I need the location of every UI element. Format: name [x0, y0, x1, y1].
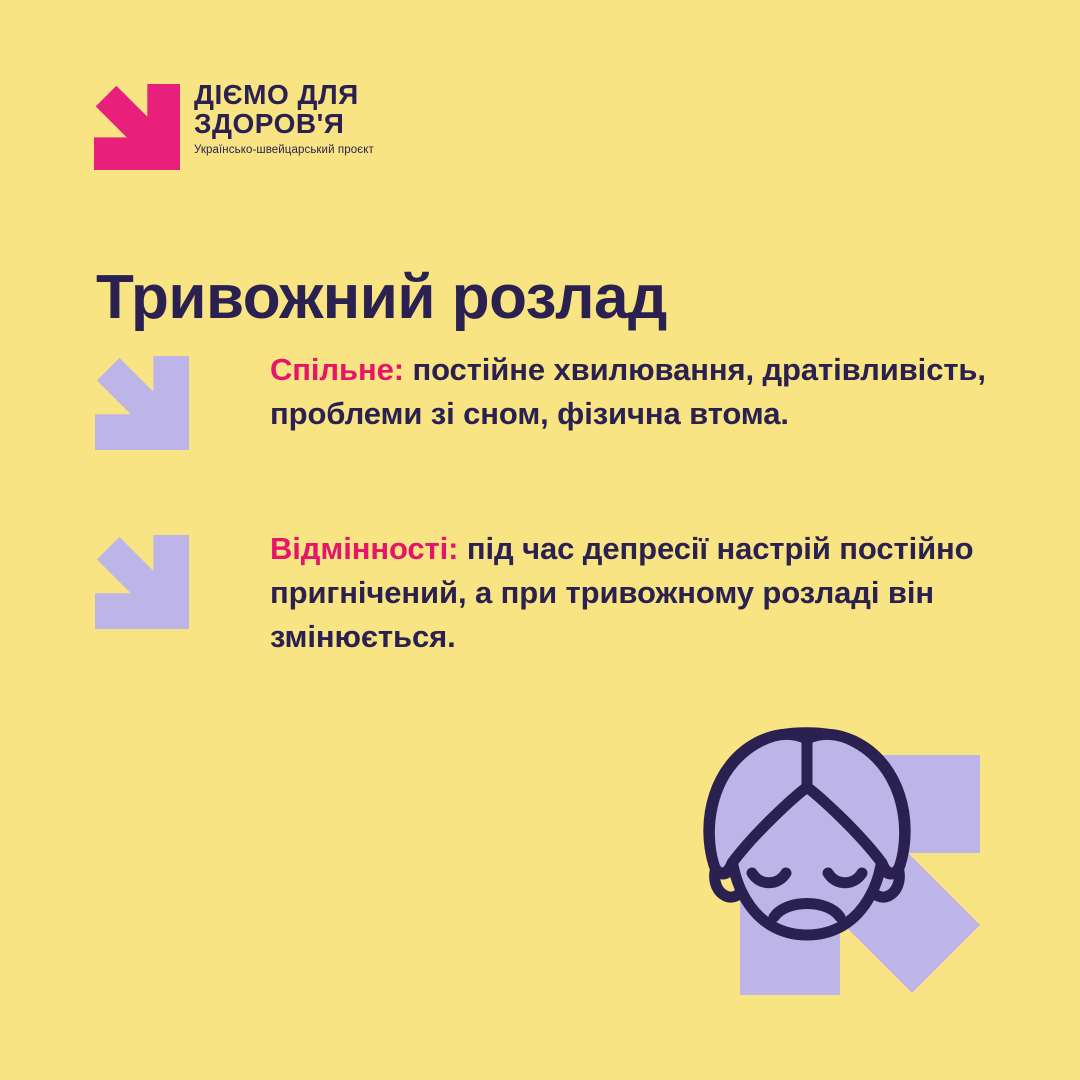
logo-line-1: ДІЄМО ДЛЯ [194, 80, 414, 109]
bullet-item: Відмінності: під час депресії настрій по… [90, 527, 990, 659]
logo-arrow-up-right-icon [94, 84, 180, 170]
logo-line-2: ЗДОРОВ'Я [194, 109, 414, 138]
bullet-text: Спільне: постійне хвилювання, дратівливі… [270, 348, 990, 436]
sad-face-with-arrow-illustration [690, 725, 990, 1020]
page-title: Тривожний розлад [96, 262, 667, 333]
bullet-label: Спільне: [270, 352, 404, 387]
logo-tagline: Українсько-швейцарський проєкт [194, 144, 414, 157]
bullet-text: Відмінності: під час депресії настрій по… [270, 527, 990, 659]
arrow-down-right-icon [95, 535, 189, 629]
arrow-down-right-icon [95, 356, 189, 450]
logo-wordmark: ДІЄМО ДЛЯ ЗДОРОВ'Я Українсько-швейцарськ… [194, 80, 414, 157]
bullet-item: Спільне: постійне хвилювання, дратівливі… [90, 348, 990, 436]
poster-canvas: ДІЄМО ДЛЯ ЗДОРОВ'Я Українсько-швейцарськ… [0, 0, 1080, 1080]
brand-logo[interactable]: ДІЄМО ДЛЯ ЗДОРОВ'Я Українсько-швейцарськ… [94, 80, 414, 180]
bullet-label: Відмінності: [270, 531, 458, 566]
